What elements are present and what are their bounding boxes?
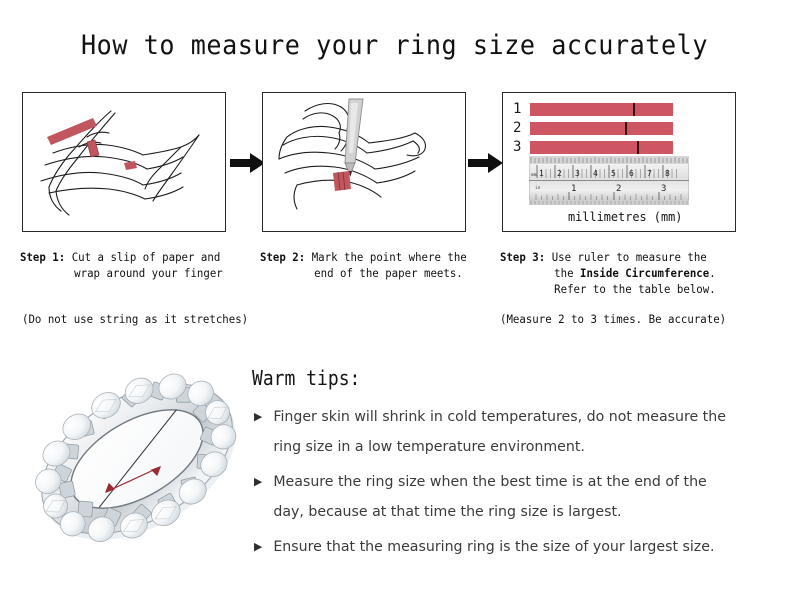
paper-strip-bar xyxy=(530,141,673,154)
arrow-right-icon xyxy=(230,152,266,174)
ruler-unit-caption: millimetres (mm) xyxy=(568,209,682,224)
strip-mark-tick xyxy=(637,141,639,154)
step-1-caption: Step 1: Cut a slip of paper and wrap aro… xyxy=(20,250,258,282)
paper-strip-bar xyxy=(530,103,673,116)
svg-text:5: 5 xyxy=(611,169,616,178)
svg-text:3: 3 xyxy=(575,169,580,178)
strip-mark-tick xyxy=(633,103,635,116)
strip-number: 2 xyxy=(513,120,530,136)
svg-text:6: 6 xyxy=(629,169,634,178)
step-2-lead: Step 2: xyxy=(260,251,305,264)
step-1-illustration-panel xyxy=(22,92,226,232)
step-1-line2: wrap around your finger xyxy=(20,266,258,282)
step-2-line1: Mark the point where the xyxy=(312,251,467,264)
svg-text:4: 4 xyxy=(593,169,598,178)
measured-strip-row: 1 xyxy=(513,101,673,117)
hand-with-paper-strip-drawing xyxy=(23,93,225,231)
ring-size-guide-page: How to measure your ring size accurately xyxy=(0,0,789,606)
step-3-line2: the Inside Circumference. xyxy=(500,266,747,282)
strip-mark-tick xyxy=(625,122,627,135)
svg-text:mm: mm xyxy=(531,173,537,178)
svg-text:8: 8 xyxy=(665,169,670,178)
step-1-lead: Step 1: xyxy=(20,251,65,264)
step-1-note: (Do not use string as it stretches) xyxy=(22,313,248,326)
bullet-triangle-icon: ▶ xyxy=(254,402,262,432)
svg-text:1: 1 xyxy=(571,184,576,194)
strip-number: 1 xyxy=(513,101,530,117)
eternity-ring-illustration: D(mm) C(mm) xyxy=(20,352,255,567)
step-3-note: (Measure 2 to 3 times. Be accurate) xyxy=(500,313,726,326)
step-3-caption: Step 3: Use ruler to measure the the Ins… xyxy=(500,250,747,298)
measured-strip-row: 2 xyxy=(513,120,673,136)
tip-text: Ensure that the measuring ring is the si… xyxy=(273,538,714,555)
svg-text:2: 2 xyxy=(557,169,562,178)
bullet-triangle-icon: ▶ xyxy=(254,532,262,562)
svg-text:1: 1 xyxy=(539,169,544,178)
ring-circumference-label: C(mm) xyxy=(20,352,46,354)
paper-strip-bar xyxy=(530,122,673,135)
step-2-illustration-panel xyxy=(262,92,466,232)
step-3-line2-post: . xyxy=(709,267,715,280)
step-3-line1: Use ruler to measure the xyxy=(552,251,707,264)
step-2-caption: Step 2: Mark the point where the end of … xyxy=(260,250,498,282)
warm-tips-list: ▶ Finger skin will shrink in cold temper… xyxy=(252,402,752,567)
measured-strip-row: 3 xyxy=(513,139,673,155)
tip-text: Measure the ring size when the best time… xyxy=(273,473,706,520)
page-title: How to measure your ring size accurately xyxy=(28,30,762,61)
strip-number: 3 xyxy=(513,139,530,155)
step-3-line3: Refer to the table below. xyxy=(500,282,747,298)
ruler-graphic: 123 456 78 mm 123 in xyxy=(529,156,689,205)
tip-text: Finger skin will shrink in cold temperat… xyxy=(273,408,726,455)
step-3-line2-pre: the xyxy=(554,267,580,280)
step-1-line1: Cut a slip of paper and xyxy=(72,251,221,264)
svg-text:in: in xyxy=(535,185,541,191)
inside-circumference-emphasis: Inside Circumference xyxy=(580,267,709,280)
step-2-line2: end of the paper meets. xyxy=(260,266,498,282)
svg-text:3: 3 xyxy=(661,184,666,194)
arrow-right-icon xyxy=(468,152,504,174)
ring-diameter-label: D(mm) xyxy=(20,352,46,354)
tip-item: ▶ Measure the ring size when the best ti… xyxy=(252,467,737,527)
bullet-triangle-icon: ▶ xyxy=(254,467,262,497)
warm-tips-heading: Warm tips: xyxy=(252,366,360,390)
svg-text:2: 2 xyxy=(616,184,621,194)
step-3-illustration-panel: 1 2 3 xyxy=(502,92,736,232)
hand-marking-paper-drawing xyxy=(263,93,465,231)
ring-diagram: D(mm) C(mm) xyxy=(20,352,255,567)
svg-text:7: 7 xyxy=(647,169,652,178)
tip-item: ▶ Finger skin will shrink in cold temper… xyxy=(252,402,737,462)
step-3-lead: Step 3: xyxy=(500,251,545,264)
tip-item: ▶ Ensure that the measuring ring is the … xyxy=(252,532,737,562)
